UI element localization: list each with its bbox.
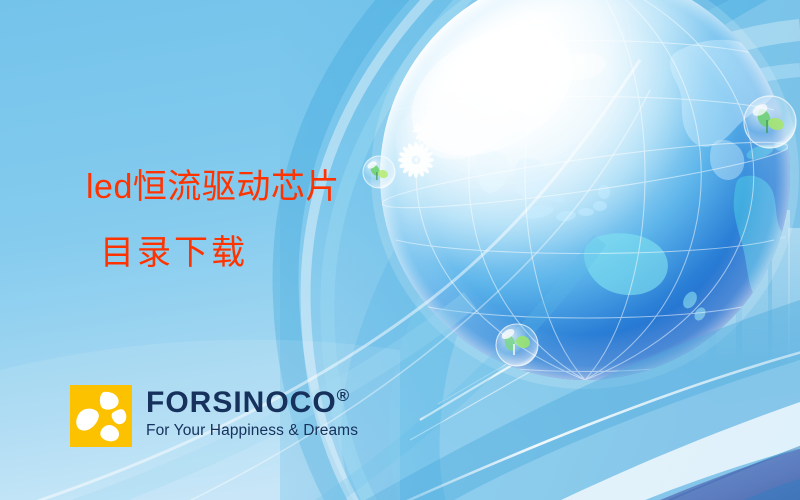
bubble-lower-center bbox=[496, 324, 538, 366]
banner-canvas: led恒流驱动芯片 目录下载 FORSINOCO® For Your Happi… bbox=[0, 0, 800, 500]
registered-trademark-icon: ® bbox=[337, 386, 350, 405]
sparkle-large bbox=[398, 142, 434, 178]
logo-text-block: FORSINOCO® For Your Happiness & Dreams bbox=[146, 385, 358, 440]
logo-wordmark-text: FORSINOCO bbox=[146, 386, 337, 419]
company-logo: FORSINOCO® For Your Happiness & Dreams bbox=[70, 385, 358, 447]
logo-wordmark: FORSINOCO® bbox=[146, 387, 358, 419]
bubble-headline bbox=[363, 156, 395, 188]
bubble-top-right bbox=[744, 96, 796, 148]
forsinoco-flower-mark-icon bbox=[70, 385, 132, 447]
logo-tagline: For Your Happiness & Dreams bbox=[146, 422, 358, 440]
